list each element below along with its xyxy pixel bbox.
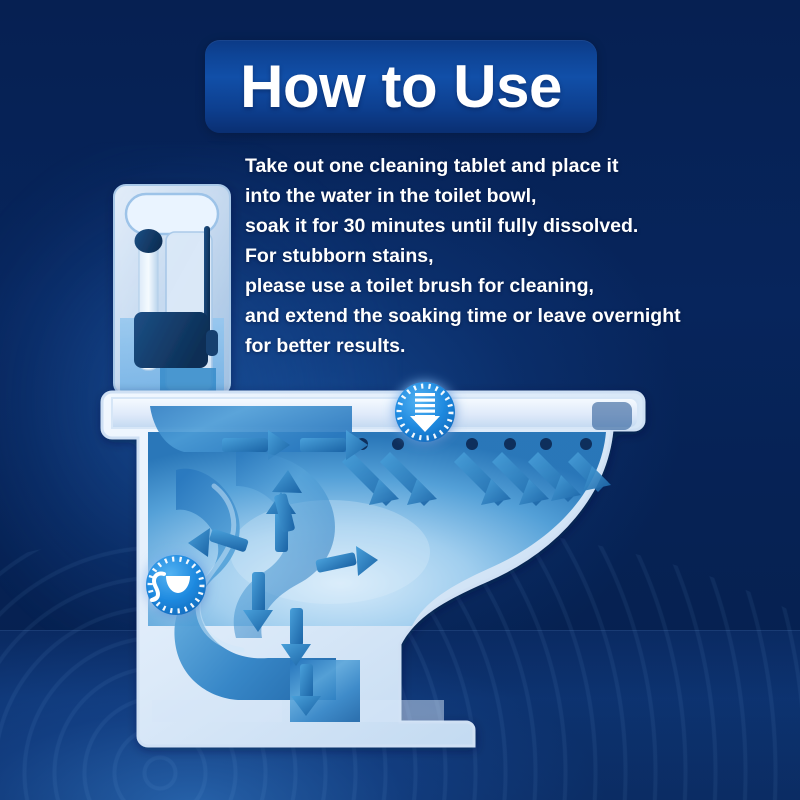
valve-outlet: [206, 330, 218, 356]
instruction-text-block: Take out one cleaning tablet and place i…: [245, 151, 715, 361]
instruction-line: soak it for 30 minutes until fully disso…: [245, 211, 715, 241]
instruction-line: please use a toilet brush for cleaning,: [245, 271, 715, 301]
rim-jet-hole: [580, 438, 592, 450]
base-left-pad: [152, 700, 282, 722]
instruction-line: Take out one cleaning tablet and place i…: [245, 151, 715, 181]
down-arrow-badge[interactable]: [395, 382, 455, 442]
how-to-use-infographic: How to Use Take out one cleaning tablet …: [0, 0, 800, 800]
rim-notch: [592, 402, 632, 430]
rim-jet-hole: [392, 438, 404, 450]
toilet-trap-badge[interactable]: [146, 555, 206, 615]
rim-jet-hole: [466, 438, 478, 450]
float-cap: [135, 229, 163, 253]
base-right-pad: [360, 700, 444, 722]
title-banner: How to Use: [205, 40, 597, 133]
instruction-line: For stubborn stains,: [245, 241, 715, 271]
page-title: How to Use: [240, 57, 562, 117]
instruction-line: and extend the soaking time or leave ove…: [245, 301, 715, 331]
rim-jet-hole: [504, 438, 516, 450]
toilet-tank: [114, 185, 230, 398]
instruction-line: for better results.: [245, 331, 715, 361]
rim-jet-hole: [540, 438, 552, 450]
valve-block: [134, 312, 208, 368]
instruction-line: into the water in the toilet bowl,: [245, 181, 715, 211]
